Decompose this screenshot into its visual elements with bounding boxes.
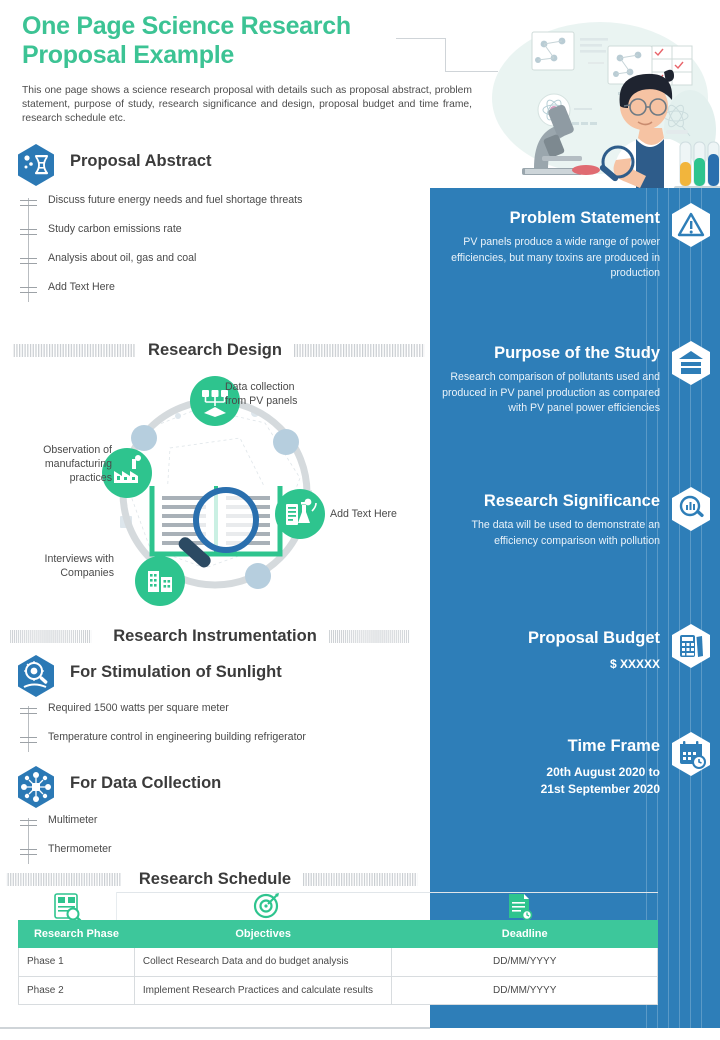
podium-hexagon-icon xyxy=(670,340,712,386)
cell-phase: Phase 1 xyxy=(19,948,135,977)
panel-section-time-frame: Time Frame 20th August 2020 to 21st Sept… xyxy=(442,736,660,797)
column-header-deadline: Deadline xyxy=(392,921,658,948)
network-nodes-hexagon-icon xyxy=(16,765,56,809)
table-row: Phase 2 Implement Research Practices and… xyxy=(19,976,658,1005)
page-title: One Page Science Research Proposal Examp… xyxy=(22,12,442,70)
list-item-label: Analysis about oil, gas and coal xyxy=(48,252,196,264)
column-header-objectives: Objectives xyxy=(134,921,392,948)
scientist-with-microscope-illustration xyxy=(468,10,720,195)
table-bottom-rule xyxy=(0,1027,430,1029)
cell-objective: Implement Research Practices and calcula… xyxy=(134,976,392,1005)
column-header-research-phase: Research Phase xyxy=(19,921,135,948)
cell-objective: Collect Research Data and do budget anal… xyxy=(134,948,392,977)
design-node-label-top: Data collection from PV panels xyxy=(225,380,345,408)
table-row: Phase 1 Collect Research Data and do bud… xyxy=(19,948,658,977)
research-design-heading: Research Design xyxy=(136,341,294,360)
warning-triangle-hexagon-icon xyxy=(670,202,712,248)
magnifier-sun-hexagon-icon xyxy=(16,654,56,698)
calculator-hexagon-icon xyxy=(670,623,712,669)
panel-section-title: Time Frame xyxy=(442,736,660,756)
research-schedule-divider: Research Schedule xyxy=(0,869,430,889)
document-deadline-icon xyxy=(509,894,532,920)
panel-section-title: Research Significance xyxy=(442,491,660,511)
panel-section-proposal-budget: Proposal Budget $ XXXXX xyxy=(442,628,660,673)
panel-section-title: Purpose of the Study xyxy=(442,343,660,363)
page-subtitle: This one page shows a science research p… xyxy=(22,84,472,127)
panel-section-value: 20th August 2020 to 21st September 2020 xyxy=(442,764,660,797)
schedule-column-icons xyxy=(18,890,658,924)
panel-section-title: Problem Statement xyxy=(442,208,660,228)
hatch-left xyxy=(0,630,101,643)
research-schedule-heading: Research Schedule xyxy=(127,870,303,889)
calendar-clock-hexagon-icon xyxy=(670,731,712,777)
hatch-left xyxy=(0,873,127,886)
hatch-right xyxy=(329,630,430,643)
list-item-label: Multimeter xyxy=(48,814,97,826)
hatch-right xyxy=(303,873,430,886)
list-item-label: Study carbon emissions rate xyxy=(48,223,182,235)
proposal-abstract-heading: Proposal Abstract xyxy=(70,152,212,171)
instrumentation-group-2-title: For Data Collection xyxy=(70,774,221,793)
list-item-label: Discuss future energy needs and fuel sho… xyxy=(48,194,302,206)
design-node-label-bottom-left: Interviews with Companies xyxy=(14,552,114,580)
panel-section-problem-statement: Problem Statement PV panels produce a wi… xyxy=(442,208,660,282)
research-instrumentation-divider: Research Instrumentation xyxy=(0,626,430,646)
hatch-right xyxy=(294,344,430,357)
cell-phase: Phase 2 xyxy=(19,976,135,1005)
cell-deadline: DD/MM/YYYY xyxy=(392,976,658,1005)
dna-research-hexagon-icon xyxy=(16,143,56,187)
research-schedule-table: Research Phase Objectives Deadline Phase… xyxy=(18,920,658,1005)
list-item-label: Add Text Here xyxy=(48,281,115,293)
list-item-label: Thermometer xyxy=(48,843,112,855)
panel-section-title: Proposal Budget xyxy=(442,628,660,648)
panel-section-body: Research comparison of pollutants used a… xyxy=(442,370,660,417)
panel-section-research-significance: Research Significance The data will be u… xyxy=(442,491,660,549)
table-header-row: Research Phase Objectives Deadline xyxy=(19,921,658,948)
list-item-label: Temperature control in engineering build… xyxy=(48,731,306,743)
design-node-label-left: Observation of manufacturing practices xyxy=(16,443,112,485)
research-instrumentation-heading: Research Instrumentation xyxy=(101,627,329,646)
panel-section-purpose-of-study: Purpose of the Study Research comparison… xyxy=(442,343,660,417)
target-icon xyxy=(255,893,279,917)
cell-deadline: DD/MM/YYYY xyxy=(392,948,658,977)
panel-section-body: The data will be used to demonstrate an … xyxy=(442,518,660,549)
document-search-icon xyxy=(55,894,82,922)
instrumentation-group-1-title: For Stimulation of Sunlight xyxy=(70,663,282,682)
magnifier-chart-hexagon-icon xyxy=(670,486,712,532)
research-design-divider: Research Design xyxy=(0,340,430,360)
panel-section-body: PV panels produce a wide range of power … xyxy=(442,235,660,282)
hatch-left xyxy=(0,344,136,357)
design-node-label-right: Add Text Here xyxy=(330,507,430,521)
research-design-diagram xyxy=(0,368,430,618)
header-bracket-decoration xyxy=(396,38,446,72)
list-item-label: Required 1500 watts per square meter xyxy=(48,702,229,714)
panel-section-value: $ XXXXX xyxy=(442,656,660,673)
